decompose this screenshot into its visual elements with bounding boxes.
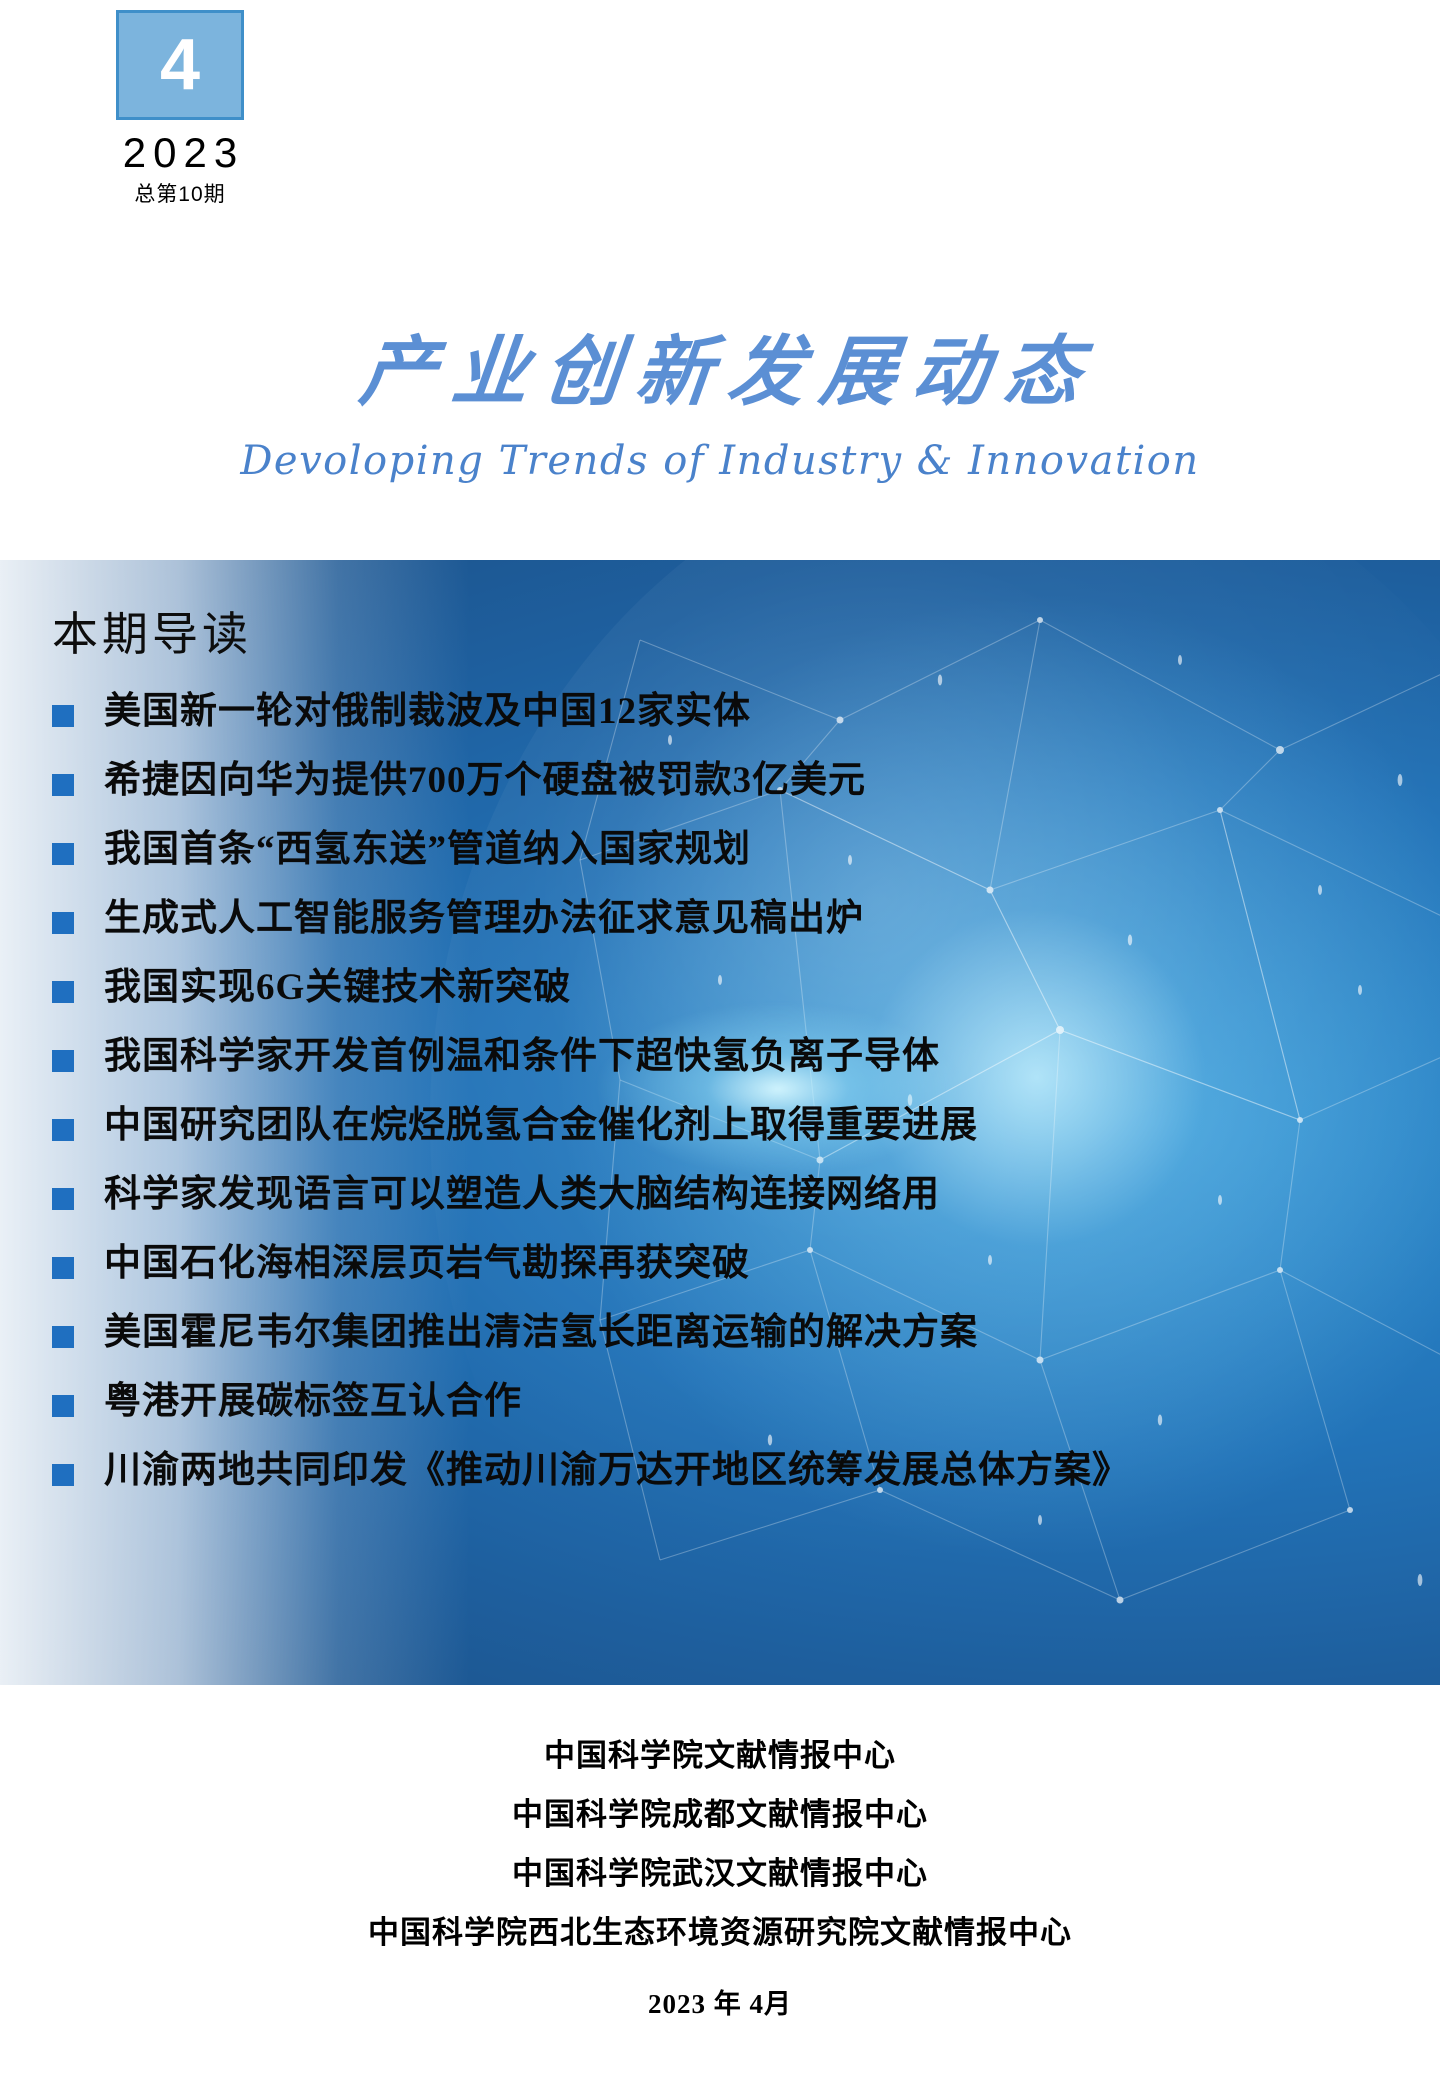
square-bullet-icon xyxy=(52,912,74,934)
list-item-label: 生成式人工智能服务管理办法征求意见稿出炉 xyxy=(104,894,864,944)
issue-number: 4 xyxy=(160,29,200,101)
list-item[interactable]: 生成式人工智能服务管理办法征求意见稿出炉 xyxy=(52,894,1382,948)
list-item[interactable]: 希捷因向华为提供700万个硬盘被罚款3亿美元 xyxy=(52,756,1382,810)
square-bullet-icon xyxy=(52,1119,74,1141)
list-item-label: 中国研究团队在烷烃脱氢合金催化剂上取得重要进展 xyxy=(104,1101,978,1151)
list-item-label: 美国霍尼韦尔集团推出清洁氢长距离运输的解决方案 xyxy=(104,1308,978,1358)
list-item[interactable]: 我国科学家开发首例温和条件下超快氢负离子导体 xyxy=(52,1032,1382,1086)
list-item[interactable]: 我国实现6G关键技术新突破 xyxy=(52,963,1382,1017)
list-item[interactable]: 粤港开展碳标签互认合作 xyxy=(52,1377,1382,1431)
square-bullet-icon xyxy=(52,1326,74,1348)
publisher-organization: 中国科学院成都文献情报中心 xyxy=(0,1799,1440,1830)
publisher-organization: 中国科学院武汉文献情报中心 xyxy=(0,1858,1440,1889)
list-item-label: 我国科学家开发首例温和条件下超快氢负离子导体 xyxy=(104,1032,940,1082)
journal-title-chinese: 产业创新发展动态 xyxy=(0,330,1440,417)
list-item[interactable]: 科学家发现语言可以塑造人类大脑结构连接网络用 xyxy=(52,1170,1382,1224)
publication-date: 2023 年 4月 xyxy=(0,1982,1440,2021)
table-of-contents: 本期导读 美国新一轮对俄制裁波及中国12家实体 希捷因向华为提供700万个硬盘被… xyxy=(52,610,1382,1515)
issue-number-badge: 4 xyxy=(116,10,244,120)
publisher-footer: 中国科学院文献情报中心 中国科学院成都文献情报中心 中国科学院武汉文献情报中心 … xyxy=(0,1740,1440,2021)
list-item[interactable]: 我国首条“西氢东送”管道纳入国家规划 xyxy=(52,825,1382,879)
masthead: 4 2023 总第10期 xyxy=(0,0,360,205)
list-item-label: 粤港开展碳标签互认合作 xyxy=(104,1377,522,1427)
list-item-label: 科学家发现语言可以塑造人类大脑结构连接网络用 xyxy=(104,1170,940,1220)
square-bullet-icon xyxy=(52,843,74,865)
list-item-label: 我国实现6G关键技术新突破 xyxy=(104,963,571,1013)
journal-title-english: Devoloping Trends of Industry & Innovati… xyxy=(0,439,1440,483)
title-block: 产业创新发展动态 Devoloping Trends of Industry &… xyxy=(0,330,1440,483)
square-bullet-icon xyxy=(52,774,74,796)
square-bullet-icon xyxy=(52,1257,74,1279)
list-item[interactable]: 川渝两地共同印发《推动川渝万达开地区统筹发展总体方案》 xyxy=(52,1446,1382,1500)
square-bullet-icon xyxy=(52,705,74,727)
square-bullet-icon xyxy=(52,1188,74,1210)
list-item[interactable]: 美国新一轮对俄制裁波及中国12家实体 xyxy=(52,687,1382,741)
issue-serial-number: 总第10期 xyxy=(0,184,360,205)
list-item[interactable]: 美国霍尼韦尔集团推出清洁氢长距离运输的解决方案 xyxy=(52,1308,1382,1362)
square-bullet-icon xyxy=(52,981,74,1003)
list-item-label: 希捷因向华为提供700万个硬盘被罚款3亿美元 xyxy=(104,756,866,806)
list-item-label: 川渝两地共同印发《推动川渝万达开地区统筹发展总体方案》 xyxy=(104,1446,1130,1496)
publisher-organization: 中国科学院西北生态环境资源研究院文献情报中心 xyxy=(0,1917,1440,1948)
square-bullet-icon xyxy=(52,1464,74,1486)
list-item-label: 中国石化海相深层页岩气勘探再获突破 xyxy=(104,1239,750,1289)
list-item-label: 我国首条“西氢东送”管道纳入国家规划 xyxy=(104,825,751,875)
publisher-organization: 中国科学院文献情报中心 xyxy=(0,1740,1440,1771)
square-bullet-icon xyxy=(52,1050,74,1072)
list-item-label: 美国新一轮对俄制裁波及中国12家实体 xyxy=(104,687,751,737)
square-bullet-icon xyxy=(52,1395,74,1417)
contents-list: 美国新一轮对俄制裁波及中国12家实体 希捷因向华为提供700万个硬盘被罚款3亿美… xyxy=(52,687,1382,1500)
issue-year: 2023 xyxy=(0,132,360,174)
list-item[interactable]: 中国石化海相深层页岩气勘探再获突破 xyxy=(52,1239,1382,1293)
contents-heading: 本期导读 xyxy=(52,610,1382,661)
list-item[interactable]: 中国研究团队在烷烃脱氢合金催化剂上取得重要进展 xyxy=(52,1101,1382,1155)
